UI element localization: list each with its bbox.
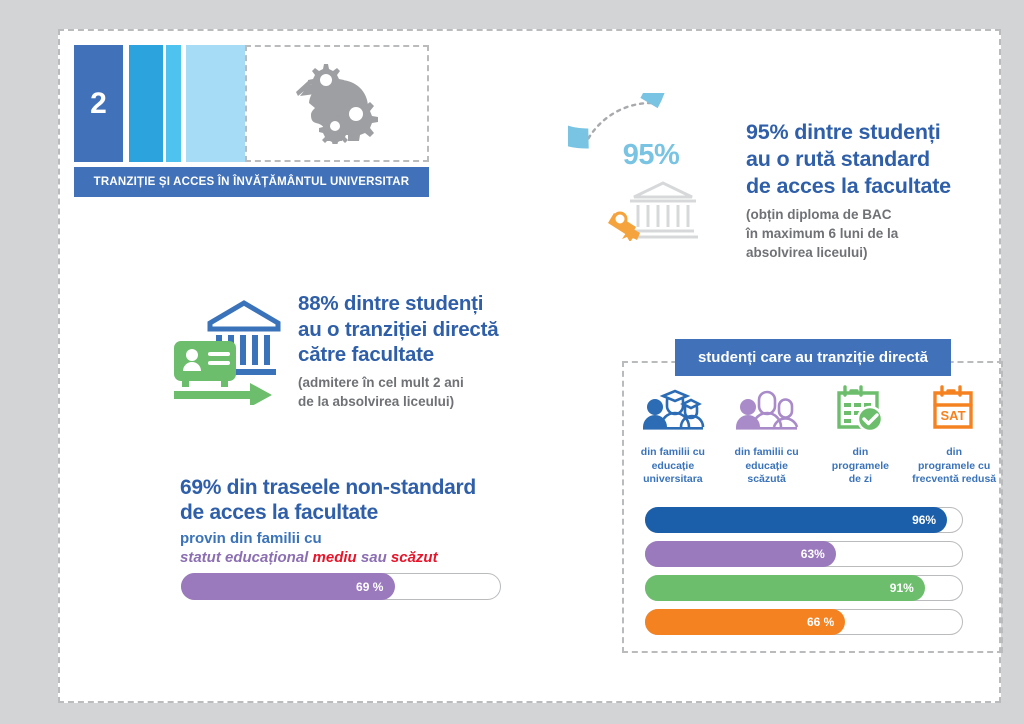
stat-88-heading-line-3: către facultate bbox=[298, 342, 568, 368]
donut-center-value: 95% bbox=[568, 139, 734, 172]
stat-69-status-sau: sau bbox=[357, 549, 391, 566]
university-idcard-arrow-icon bbox=[172, 293, 282, 405]
progress-bar-fill: 91% bbox=[645, 575, 925, 601]
stat-69-text: 69% din traseele non-standard de acces l… bbox=[180, 475, 540, 566]
stat-95-sub-line-1: (obțin diploma de BAC bbox=[746, 205, 1024, 224]
stat-88-heading-line-1: 88% dintre studenți bbox=[298, 291, 568, 317]
stat-69-subline: provin din familii cu bbox=[180, 530, 540, 547]
header-bar-3 bbox=[166, 45, 181, 162]
stat-88-heading-line-2: au o tranziției directă bbox=[298, 317, 568, 343]
category-label-line: frecventă redusă bbox=[912, 473, 996, 487]
category-label: din familii cu educație universitara bbox=[641, 446, 705, 487]
category-label-line: de zi bbox=[832, 473, 889, 487]
header-bar-4 bbox=[186, 45, 253, 162]
panel-categories: din familii cu educație universitara bbox=[626, 383, 1001, 487]
stat-95-sub-line-2: în maximum 6 luni de la bbox=[746, 224, 1024, 243]
stat-69-heading-line-1: 69% din traseele non-standard bbox=[180, 475, 540, 500]
category-item: din programele de zi bbox=[814, 383, 908, 487]
stat-69-status-scazut: scăzut bbox=[391, 549, 438, 566]
stat-95-sub-line-3: absolvirea liceului) bbox=[746, 243, 1024, 262]
category-label-line: educație bbox=[641, 460, 705, 474]
stat-95-heading-line-2: au o rută standard bbox=[746, 146, 1024, 173]
infographic-page: 2 TRANZIȚIE ȘI ACCES ÎN ÎNVĂȚĂMÂNTUL UNI… bbox=[58, 29, 1001, 703]
progress-bar-fill: 96% bbox=[645, 507, 947, 533]
progress-bar-track: 91% bbox=[645, 575, 963, 601]
stat-88-text: 88% dintre studenți au o tranziției dire… bbox=[298, 291, 568, 411]
category-label-line: universitara bbox=[641, 473, 705, 487]
stat-88-sub-line-1: (admitere în cel mult 2 ani bbox=[298, 373, 568, 392]
category-label-line: din familii cu bbox=[641, 446, 705, 460]
category-label: din familii cu educație scăzută bbox=[735, 446, 799, 487]
stat-88-sub-line-2: de la absolvirea liceului) bbox=[298, 392, 568, 411]
progress-bar-fill: 63% bbox=[645, 541, 836, 567]
category-label: din programele de zi bbox=[832, 446, 889, 487]
panel-banner-title: studenți care au tranziție directă bbox=[675, 339, 951, 376]
category-label-line: din bbox=[912, 446, 996, 460]
panel-bars: 96% 63% 91% 66 % bbox=[645, 507, 963, 643]
category-label-line: programele cu bbox=[912, 460, 996, 474]
progress-bar-track: 63% bbox=[645, 541, 963, 567]
head-gears-icon bbox=[278, 58, 396, 149]
category-label-line: educație bbox=[735, 460, 799, 474]
progress-bar-track: 96% bbox=[645, 507, 963, 533]
donut-chart-95: 95% bbox=[568, 93, 734, 259]
category-item: SAT din programele cu frecventă redusă bbox=[907, 383, 1001, 487]
progress-bar-track: 66 % bbox=[645, 609, 963, 635]
category-item: din familii cu educație universitara bbox=[626, 383, 720, 487]
graduates-group-icon bbox=[641, 383, 705, 433]
stat-69-status-prefix: statut educațional bbox=[180, 549, 313, 566]
progress-bar-fill: 66 % bbox=[645, 609, 845, 635]
category-item: din familii cu educație scăzută bbox=[720, 383, 814, 487]
stat-69-status-mediu: mediu bbox=[313, 549, 357, 566]
header-icon-box bbox=[245, 45, 429, 162]
stat-95-heading-line-1: 95% dintre studenți bbox=[746, 119, 1024, 146]
progress-bar-69-fill: 69 % bbox=[181, 573, 395, 600]
people-group-icon bbox=[735, 383, 799, 433]
category-label-line: din bbox=[832, 446, 889, 460]
svg-text:SAT: SAT bbox=[941, 408, 966, 423]
category-label: din programele cu frecventă redusă bbox=[912, 446, 996, 487]
stat-69-status-line: statut educațional mediu sau scăzut bbox=[180, 549, 540, 566]
stat-95-text: 95% dintre studenți au o rută standard d… bbox=[746, 119, 1024, 262]
calendar-check-icon bbox=[835, 383, 885, 433]
section-title: TRANZIȚIE ȘI ACCES ÎN ÎNVĂȚĂMÂNTUL UNIVE… bbox=[74, 167, 429, 197]
header-bar-2 bbox=[129, 45, 163, 162]
stat-69-heading-line-2: de acces la facultate bbox=[180, 500, 540, 525]
category-label-line: programele bbox=[832, 460, 889, 474]
calendar-sat-icon: SAT bbox=[929, 383, 979, 433]
stat-95-heading-line-3: de acces la facultate bbox=[746, 173, 1024, 200]
progress-bar-69-track: 69 % bbox=[181, 573, 501, 600]
university-diploma-icon bbox=[608, 177, 700, 241]
category-label-line: din familii cu bbox=[735, 446, 799, 460]
section-number: 2 bbox=[74, 45, 123, 162]
category-label-line: scăzută bbox=[735, 473, 799, 487]
